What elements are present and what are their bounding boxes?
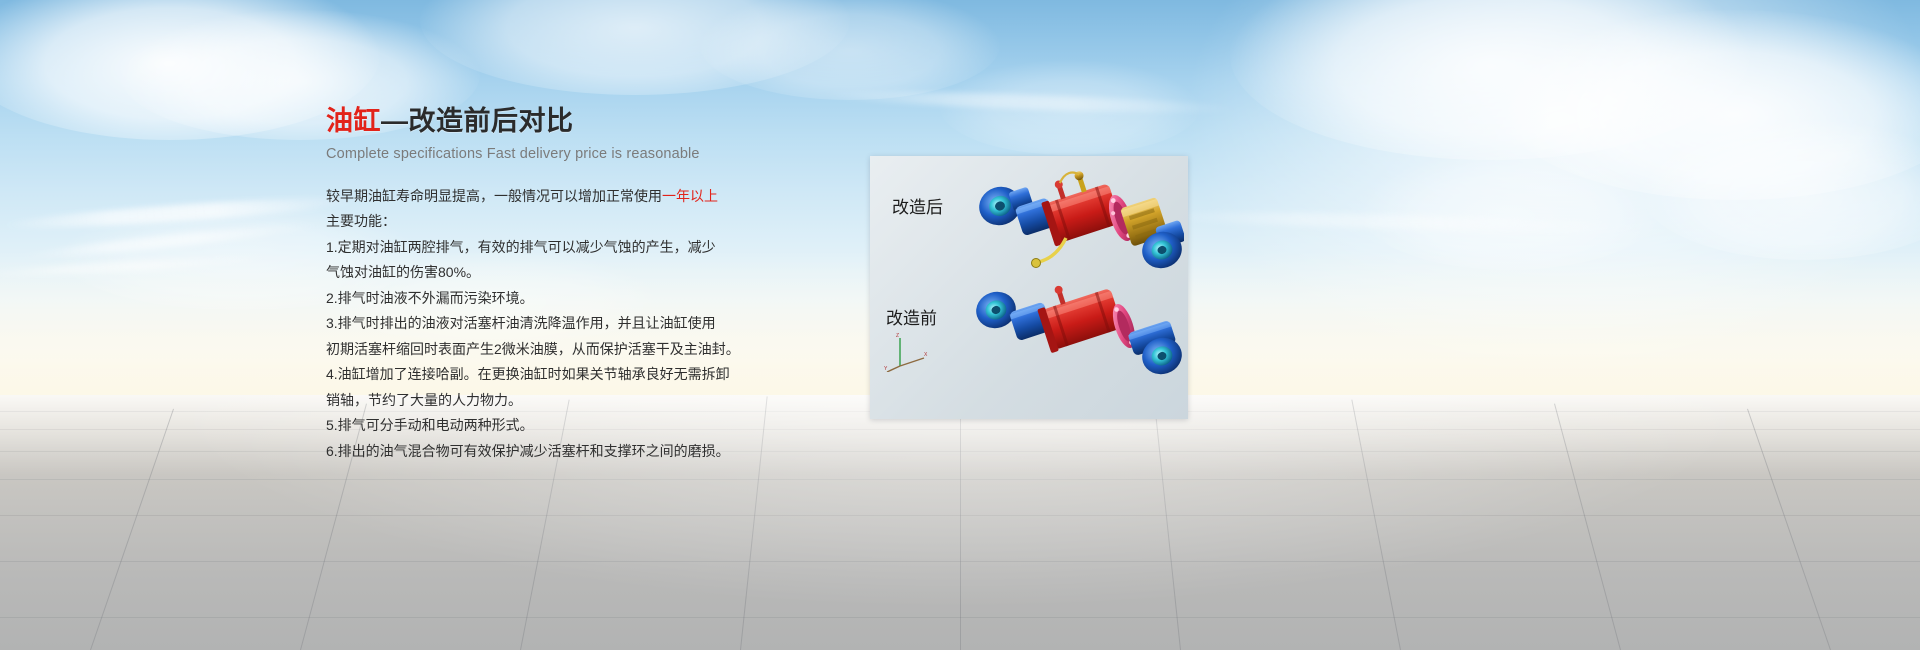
feature-list: 较早期油缸寿命明显提高，一般情况可以增加正常使用一年以上 主要功能： 1.定期对… <box>326 184 846 465</box>
axis-gizmo-icon: Z X Y <box>884 332 930 372</box>
body-line-text: 较早期油缸寿命明显提高，一般情况可以增加正常使用 <box>326 188 662 204</box>
title-highlight: 油缸 <box>326 106 381 136</box>
ground-plane <box>0 395 1920 650</box>
label-before-modification: 改造前 <box>886 304 937 329</box>
body-line: 4.油缸增加了连接哈副。在更换油缸时如果关节轴承良好无需拆卸 <box>326 362 846 388</box>
body-line: 5.排气可分手动和电动两种形式。 <box>326 413 846 439</box>
page-title: 油缸—改造前后对比 <box>326 105 846 139</box>
banner-stage: 油缸—改造前后对比 Complete specifications Fast d… <box>0 0 1920 650</box>
cylinder-before-model <box>966 276 1184 388</box>
body-line: 较早期油缸寿命明显提高，一般情况可以增加正常使用一年以上 <box>326 184 846 210</box>
svg-text:X: X <box>924 352 928 358</box>
banner-copy: 油缸—改造前后对比 Complete specifications Fast d… <box>326 105 846 464</box>
body-line: 2.排气时油液不外漏而污染环境。 <box>326 286 846 312</box>
body-line: 3.排气时排出的油液对活塞杆油清洗降温作用，并且让油缸使用 <box>326 311 846 337</box>
title-rest: —改造前后对比 <box>381 106 574 136</box>
body-line-accent: 一年以上 <box>662 188 718 204</box>
body-line: 1.定期对油缸两腔排气，有效的排气可以减少气蚀的产生，减少 <box>326 235 846 261</box>
cylinder-after-model <box>966 166 1184 278</box>
body-line: 初期活塞杆缩回时表面产生2微米油膜，从而保护活塞干及主油封。 <box>326 337 846 363</box>
product-comparison-image: 改造后 改造前 <box>870 156 1188 419</box>
body-line: 主要功能： <box>326 209 846 235</box>
svg-text:Z: Z <box>896 333 899 339</box>
body-line: 气蚀对油缸的伤害80%。 <box>326 260 846 286</box>
body-line: 销轴，节约了大量的人力物力。 <box>326 388 846 414</box>
ground-line <box>960 395 961 650</box>
body-line: 6.排出的油气混合物可有效保护减少活塞杆和支撑环之间的磨损。 <box>326 439 846 465</box>
page-subtitle: Complete specifications Fast delivery pr… <box>326 146 846 162</box>
label-after-modification: 改造后 <box>892 193 943 218</box>
